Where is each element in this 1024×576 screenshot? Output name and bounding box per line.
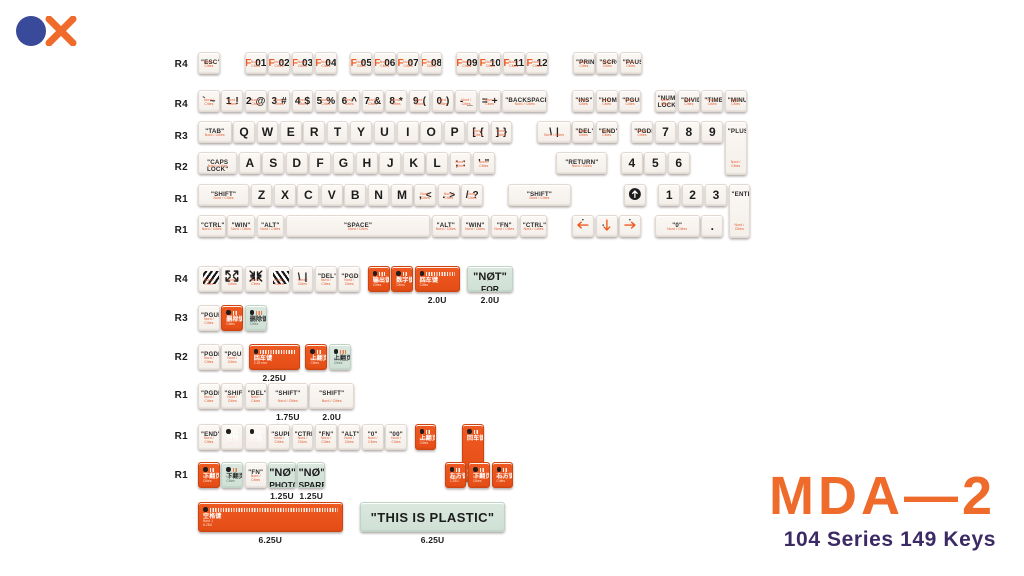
keycap-extra-r2-2[interactable]: 回车键Nord 2 2.25 mm — [249, 344, 300, 370]
key-sublegend: Nord / Cities — [726, 98, 746, 107]
key-legend: C — [298, 185, 318, 205]
novelty-header — [334, 349, 346, 354]
key-sublegend: Nord 1 Cities — [497, 475, 510, 484]
keycap-extra-r5-5[interactable]: 左方键Nord 1 1.25U — [445, 462, 467, 488]
keycap-base-r2-12[interactable]: ]}Nord / Cities — [491, 121, 513, 143]
key-sublegend: Nord / Cities — [222, 98, 242, 107]
keycap-base-r1-10[interactable]: 0)Nord / Cities — [432, 90, 454, 112]
key-sublegend: Nord / Cities — [679, 98, 699, 107]
keycap-base-r3-9[interactable]: L — [426, 152, 448, 174]
key-legend: D — [287, 153, 307, 173]
keycap-base-r1-4[interactable]: 4$Nord / Cities — [292, 90, 314, 112]
keycap-base-r4-7[interactable]: M — [391, 184, 413, 206]
key-sublegend: Nord / Cities — [398, 60, 418, 69]
bullet-icon — [467, 429, 472, 434]
key-sublegend: Nord / Cities — [269, 436, 289, 445]
keycap-extra-r6-0[interactable]: 空格键Nord 1 6.25U — [198, 502, 343, 532]
bars-icon — [317, 350, 322, 354]
keycap-base-r4-11[interactable]: "SHIFT"Nord / Cities — [508, 184, 571, 206]
keycap-base-r3-3[interactable]: D — [286, 152, 308, 174]
keycap-base-r3-1[interactable]: A — [239, 152, 261, 174]
key-legend: 2 — [683, 185, 703, 205]
keycap-base-r3-7[interactable]: J — [379, 152, 401, 174]
keycap-base-r2-7[interactable]: U — [374, 121, 396, 143]
keycap-base-r2-2[interactable]: W — [257, 121, 279, 143]
row-label-r2: R2 — [166, 162, 188, 173]
keycap-extra-r0-6[interactable]: "PGDN"Nord / Cities — [338, 266, 360, 292]
keycap-base-r3-6[interactable]: H — [356, 152, 378, 174]
keycap-base-r1-20[interactable]: "MINUS"Nord / Cities — [725, 90, 747, 112]
bullet-icon — [420, 271, 425, 276]
key-sublegend: Nord 1 1.25U — [450, 475, 463, 484]
keycap-base-r2-9[interactable]: O — [420, 121, 442, 143]
keycap-base-r4-4[interactable]: V — [321, 184, 343, 206]
unit-caption-0-10: 2.0U — [467, 295, 512, 305]
key-legend: "THIS IS PLASTIC" — [361, 503, 504, 531]
key-sublegend: Nord / Cities — [457, 60, 477, 69]
key-sublegend: Nord / Cities — [222, 278, 242, 287]
keycap-extra-r5-7[interactable]: 右方键Nord 1 Cities — [492, 462, 514, 488]
key-legend-line2: SPARE — [298, 481, 324, 488]
brand-logo — [16, 14, 96, 50]
key-sublegend: Nord / Cities — [451, 160, 471, 169]
key-sublegend: Nord / Cities — [287, 227, 430, 231]
keycap-base-r0-4[interactable]: F04Nord / Cities — [315, 52, 337, 74]
keycap-base-r0-10[interactable]: F10Nord / Cities — [479, 52, 501, 74]
arrow-left-icon — [573, 216, 593, 234]
keycap-base-r3-10[interactable]: ;:Nord / Cities — [450, 152, 472, 174]
key-legend: W — [258, 122, 278, 142]
keycap-base-r0-15[interactable]: "PAUSE"Nord / Cities — [620, 52, 642, 74]
keycap-extra-r4-7[interactable]: "0"Nord / Cities — [362, 424, 384, 450]
novelty-header — [497, 467, 509, 472]
keycap-extra-r0-8[interactable]: 数字键Nord 4 Cities — [391, 266, 413, 292]
row-label-r4-1: R4 — [166, 59, 188, 70]
keycap-base-r3-14[interactable]: 5 — [644, 152, 666, 174]
keycap-base-r0-1[interactable]: F01Nord / Cities — [245, 52, 267, 74]
keycap-base-r5-11[interactable]: "0"Nord / Cities — [655, 215, 700, 237]
keycap-extra-r3-4[interactable]: "SHIFT"Nord / Cities — [309, 383, 354, 409]
keycap-base-r3-2[interactable]: S — [262, 152, 284, 174]
keycap-extra-r5-2[interactable]: "FN"Nord / Cities — [245, 462, 267, 488]
keycap-base-r5-4[interactable]: "ALT"Nord / Cities — [432, 215, 460, 237]
key-sublegend: Nord / Cities — [199, 317, 219, 326]
row-label-r3: R3 — [166, 131, 188, 142]
orange-cross-icon — [44, 16, 78, 46]
keycap-base-r2-16[interactable]: "PGDN"Nord / Cities — [631, 121, 653, 143]
key-sublegend: Nord / Cities — [620, 98, 640, 107]
bullet-icon — [226, 310, 231, 315]
keycap-base-r0-9[interactable]: F09Nord / Cities — [456, 52, 478, 74]
keycap-base-r1-7[interactable]: 7&Nord / Cities — [362, 90, 384, 112]
key-sublegend: Nord / Cities — [199, 436, 219, 445]
keycap-base-r2-17[interactable]: 7 — [655, 121, 677, 143]
key-sublegend: Nord / Cities — [269, 60, 289, 69]
key-legend: O — [421, 122, 441, 142]
bars-icon — [233, 311, 238, 315]
keycap-extra-r5-4[interactable]: "NØ"SPARE — [297, 462, 325, 488]
key-legend: N — [369, 185, 389, 205]
key-sublegend: Nord / Cities — [199, 227, 225, 231]
keycap-base-r4-1[interactable]: Z — [251, 184, 273, 206]
key-sublegend: Nord / Cities — [199, 60, 219, 69]
key-sublegend: Nord / Cities — [509, 196, 570, 200]
key-sublegend: Nord 2 2.25 mm — [254, 357, 296, 366]
keycap-base-r4-14[interactable]: 2 — [682, 184, 704, 206]
keycap-extra-r3-2[interactable]: "DEL"Nord / Cities — [245, 383, 267, 409]
key-sublegend: Nord / Cities — [503, 102, 546, 106]
key-sublegend: Nord / Cities — [410, 98, 430, 107]
keycap-base-r3-8[interactable]: K — [403, 152, 425, 174]
keycap-extra-r3-1[interactable]: "SHIFT"Nord / Cities — [221, 383, 243, 409]
key-legend: "SHIFT" — [269, 390, 306, 397]
key-sublegend: Nord / Cities — [730, 223, 750, 232]
key-sublegend: Nord / Cities — [492, 227, 518, 231]
keycap-base-r4-9[interactable]: .>Nord / Cities — [438, 184, 460, 206]
keycap-base-r2-18[interactable]: 8 — [678, 121, 700, 143]
keycap-base-r4-5[interactable]: B — [344, 184, 366, 206]
key-sublegend: Nord / Cities — [632, 129, 652, 138]
bars-icon — [456, 468, 461, 472]
bars-icon — [379, 272, 384, 276]
key-legend-line1: "NØ" — [298, 468, 324, 480]
keycap-base-r1-13[interactable]: "BACKSPACE"Nord / Cities — [502, 90, 547, 112]
key-legend: P — [445, 122, 465, 142]
arrow-down-icon — [597, 216, 617, 234]
bullet-icon — [250, 429, 255, 434]
keycap-base-r3-12[interactable]: "RETURN"Nord / Cities — [556, 152, 607, 174]
key-sublegend: Nord / Cities — [462, 227, 488, 231]
keycap-base-r3-5[interactable]: G — [333, 152, 355, 174]
key-sublegend: Nord / Cities — [316, 60, 336, 69]
bullet-icon — [420, 429, 425, 434]
key-legend-line2: PHOTO — [269, 481, 295, 488]
bars-icon — [503, 468, 508, 472]
key-legend: "ENTER" — [730, 191, 750, 198]
novelty-header — [420, 429, 432, 434]
key-sublegend: Nord / Cities — [199, 395, 219, 404]
key-legend: H — [357, 153, 377, 173]
key-sublegend: Nord / Cities — [199, 278, 219, 287]
keycap-base-r1-6[interactable]: 6^Nord / Cities — [338, 90, 360, 112]
keycap-base-r0-3[interactable]: F03Nord / Cities — [292, 52, 314, 74]
bars-icon — [210, 468, 215, 472]
keycap-base-r1-0[interactable]: `~Nord / Cities — [198, 90, 220, 112]
novelty-header — [203, 507, 338, 512]
keycap-base-r2-6[interactable]: Y — [350, 121, 372, 143]
keycap-base-r2-5[interactable]: T — [327, 121, 349, 143]
key-sublegend: Nord / Cities — [538, 133, 570, 137]
key-sublegend: Nord / Cities — [433, 98, 453, 107]
keycap-base-r1-17[interactable]: "NUM" LOCKNord / Cities — [655, 90, 677, 112]
keycap-base-r1-3[interactable]: 3#Nord / Cities — [268, 90, 290, 112]
keycap-extra-r5-1[interactable]: 下翻页Nord 1 Cities — [221, 462, 243, 488]
keycap-extra-r4-4[interactable]: "CTRL"Nord / Cities — [292, 424, 314, 450]
row-label-r1-1: R1 — [166, 194, 188, 205]
keycap-base-r0-2[interactable]: F02Nord / Cities — [268, 52, 290, 74]
keycap-base-r2-11[interactable]: [{Nord / Cities — [467, 121, 489, 143]
key-sublegend: Nord / Cities — [222, 395, 242, 404]
bars-icon — [340, 350, 345, 354]
key-sublegend: Nord / Cities — [293, 436, 313, 445]
novelty-header — [226, 310, 238, 315]
keycap-base-r4-6[interactable]: N — [368, 184, 390, 206]
keycap-base-r3-11[interactable]: '"Nord / Cities — [473, 152, 495, 174]
keycap-extra-r2-0[interactable]: "PGDN"Nord / Cities — [198, 344, 220, 370]
keycap-base-r0-11[interactable]: F11Nord / Cities — [503, 52, 525, 74]
keycap-base-r1-8[interactable]: 8*Nord / Cities — [385, 90, 407, 112]
row-label-r1-2: R1 — [166, 225, 188, 236]
keycap-base-r5-7[interactable]: "CTRL"Nord / Cities — [520, 215, 548, 237]
keycap-base-r0-7[interactable]: F07Nord / Cities — [397, 52, 419, 74]
keycap-base-r1-5[interactable]: 5%Nord / Cities — [315, 90, 337, 112]
key-legend: "PLUS" — [726, 128, 746, 135]
keycap-base-r4-8[interactable]: ,<Nord / Cities — [414, 184, 436, 206]
keycap-extra-r4-5[interactable]: "FN"Nord / Cities — [315, 424, 337, 450]
keycap-base-r5-0[interactable]: "CTRL"Nord / Cities — [198, 215, 226, 237]
key-sublegend: Nord / Cities — [468, 129, 488, 138]
bars-icon — [426, 272, 455, 276]
novelty-header — [467, 429, 479, 434]
keycap-extra-r0-9[interactable]: 回车键Nord 4 Cities — [415, 266, 460, 292]
keycap-extra-r4-6[interactable]: "ALT"Nord / Cities — [338, 424, 360, 450]
keycap-base-r0-0[interactable]: "ESC"Nord / Cities — [198, 52, 220, 74]
keycap-extra-r5-0[interactable]: 下翻页Nord 1 Cities — [198, 462, 220, 488]
keycap-base-r3-15[interactable]: 6 — [668, 152, 690, 174]
key-legend: B — [345, 185, 365, 205]
keycap-extra-r5-6[interactable]: 下翻页Nord 1 Cities — [468, 462, 490, 488]
keycap-base-r5-2[interactable]: "ALT"Nord / Cities — [257, 215, 285, 237]
key-sublegend: Nord / Cities — [363, 98, 383, 107]
keycap-base-r5-3[interactable]: "SPACE"Nord / Cities — [286, 215, 431, 237]
novelty-header — [254, 349, 295, 354]
bars-icon — [426, 430, 431, 434]
key-sublegend: Nord / Cities — [573, 129, 593, 138]
keycap-base-r5-6[interactable]: "FN"Nord / Cities — [491, 215, 519, 237]
keycap-base-r2-3[interactable]: E — [280, 121, 302, 143]
keycap-extra-r2-4[interactable]: 上翻页Nord 2 Cities — [329, 344, 351, 370]
keycap-base-r1-19[interactable]: "TIMES"Nord / Cities — [701, 90, 723, 112]
keycap-base-r4-0[interactable]: "SHIFT"Nord / Cities — [198, 184, 249, 206]
keycap-base-r5-12[interactable]: . — [701, 215, 723, 237]
keycap-extra-r4-2[interactable]: 功能Nord 1 Cities — [245, 424, 267, 450]
key-sublegend: Nord / Cities — [258, 227, 284, 231]
keycap-base-r5-10[interactable] — [619, 215, 641, 237]
keycap-base-r1-12[interactable]: =+Nord / Cities — [479, 90, 501, 112]
key-sublegend: Nord / Cities — [415, 192, 435, 201]
unit-caption-3-3: 1.75U — [268, 412, 307, 422]
key-legend: L — [427, 153, 447, 173]
arrow-right-icon — [620, 216, 640, 234]
key-legend: T — [328, 122, 348, 142]
keycap-extra-r0-10[interactable]: "NØT"FOR RESALE — [467, 266, 512, 292]
keycap-extra-r5-3[interactable]: "NØ"PHOTO — [268, 462, 296, 488]
novelty-header — [473, 467, 485, 472]
bullet-icon — [250, 310, 255, 315]
keycap-base-r0-5[interactable]: F05Nord / Cities — [350, 52, 372, 74]
keycap-base-r1-14[interactable]: "INS"Nord / Cities — [572, 90, 594, 112]
key-sublegend: Nord 1 Cities — [226, 437, 239, 446]
keycap-extra-r1-0[interactable]: "PGUP"Nord / Cities — [198, 305, 220, 331]
key-sublegend: Nord / Cities — [439, 192, 459, 201]
keycap-base-r5-5[interactable]: "WIN"Nord / Cities — [461, 215, 489, 237]
key-sublegend: Nord 1 Cities — [473, 475, 486, 484]
novelty-header — [226, 429, 238, 434]
keycap-base-r4-15[interactable]: 3 — [705, 184, 727, 206]
key-sublegend: Nord / Cities — [269, 278, 289, 287]
key-legend: I — [398, 122, 418, 142]
keycap-base-r2-20[interactable]: "PLUS"Nord / Cities — [725, 121, 747, 175]
novelty-header — [226, 467, 238, 472]
bars-icon — [480, 468, 485, 472]
key-sublegend: Nord / Cities — [246, 60, 266, 69]
extra-row-label-r3: R3 — [166, 313, 188, 324]
keycap-extra-r4-8[interactable]: "00"Nord / Cities — [385, 424, 407, 450]
key-legend: Q — [234, 122, 254, 142]
keycap-extra-r0-0[interactable]: Nord / Cities — [198, 266, 220, 292]
keycap-base-r2-1[interactable]: Q — [233, 121, 255, 143]
key-legend-cjk: 回车键 — [467, 436, 480, 443]
key-sublegend: Nord / Cities — [726, 160, 746, 169]
keycap-extra-r4-0[interactable]: "END"Nord / Cities — [198, 424, 220, 450]
novelty-header — [310, 349, 322, 354]
keycap-base-r2-19[interactable]: 9 — [701, 121, 723, 143]
key-sublegend: Nord / Cities — [574, 60, 594, 69]
key-sublegend: Nord / Cities — [375, 60, 395, 69]
novelty-header — [250, 310, 262, 315]
keycap-base-r0-8[interactable]: F08Nord / Cities — [421, 52, 443, 74]
unit-caption-0-9: 2.0U — [415, 295, 460, 305]
key-sublegend: Nord / Cities — [199, 356, 219, 365]
key-sublegend: Nord / Cities — [363, 436, 383, 445]
unit-caption-3-4: 2.0U — [309, 412, 354, 422]
key-sublegend: Nord / Cities — [621, 60, 641, 69]
key-sublegend: Nord / Cities — [228, 227, 254, 231]
key-legend: 7 — [656, 122, 676, 142]
arrow-up-icon — [625, 185, 645, 203]
keycap-extra-r0-2[interactable]: Nord / Cities — [245, 266, 267, 292]
keycap-base-r2-0[interactable]: "TAB"Nord / Cities — [198, 121, 232, 143]
keycap-base-r1-15[interactable]: "HOME"Nord / Cities — [596, 90, 618, 112]
page-subtitle: 104 Series 149 Keys — [769, 528, 996, 552]
keycap-base-r1-2[interactable]: 2@Nord / Cities — [245, 90, 267, 112]
bullet-icon — [254, 349, 259, 354]
key-sublegend: Nord / Cities — [557, 164, 606, 168]
key-sublegend: Nord / Cities — [422, 60, 442, 69]
keycap-base-r2-15[interactable]: "END"Nord / Cities — [596, 121, 618, 143]
keycap-extra-r0-4[interactable]: \|Nord / Cities — [292, 266, 314, 292]
key-sublegend: Nord / Cities — [521, 227, 547, 231]
keycap-base-r2-13[interactable]: \|Nord / Cities — [537, 121, 571, 143]
key-sublegend: Nord 1 6.25U — [203, 519, 339, 528]
keycap-base-r1-9[interactable]: 9(Nord / Cities — [409, 90, 431, 112]
keycap-extra-r6-1[interactable]: "THIS IS PLASTIC" — [360, 502, 505, 532]
key-sublegend: Nord 1 Cities — [250, 437, 263, 446]
keycap-base-r0-6[interactable]: F06Nord / Cities — [374, 52, 396, 74]
key-sublegend: Nord / Cities — [293, 278, 313, 287]
key-sublegend: Nord / Cities — [702, 98, 722, 107]
bullet-icon — [473, 467, 478, 472]
keycap-base-r0-13[interactable]: "PRINT"Nord / Cities — [573, 52, 595, 74]
key-sublegend: Nord 4 Cities — [396, 279, 409, 288]
keycap-base-r2-4[interactable]: R — [303, 121, 325, 143]
keycap-extra-r2-1[interactable]: "PGUP"Nord / Cities — [221, 344, 243, 370]
key-sublegend: Nord 1 Cities — [226, 475, 239, 484]
keycap-base-r4-13[interactable]: 1 — [658, 184, 680, 206]
key-legend: A — [240, 153, 260, 173]
keycap-base-r1-1[interactable]: 1!Nord / Cities — [221, 90, 243, 112]
keycap-extra-r3-0[interactable]: "PGDN"Nord / Cities — [198, 383, 220, 409]
unit-caption-6-0: 6.25U — [198, 535, 343, 545]
keycap-base-r1-16[interactable]: "PGUP"Nord / Cities — [619, 90, 641, 112]
key-sublegend: Nord / Cities — [386, 98, 406, 107]
keycap-extra-r0-5[interactable]: "DEL"Nord / Cities — [315, 266, 337, 292]
bullet-icon — [226, 429, 231, 434]
keycap-base-r4-2[interactable]: X — [274, 184, 296, 206]
keycap-base-r2-10[interactable]: P — [444, 121, 466, 143]
keycap-extra-r4-3[interactable]: "SUPER"Nord / Cities — [268, 424, 290, 450]
key-sublegend: Nord / Cities — [222, 356, 242, 365]
keycap-extra-r0-3[interactable]: Nord / Cities — [268, 266, 290, 292]
key-sublegend: Nord / Cities — [246, 278, 266, 287]
keycap-base-r4-3[interactable]: C — [297, 184, 319, 206]
keycap-extra-r4-9[interactable]: 上翻页Nord 1 Cities — [415, 424, 437, 450]
keycap-base-r0-12[interactable]: F12Nord / Cities — [526, 52, 548, 74]
keycap-base-r2-14[interactable]: "DEL"Nord / Cities — [572, 121, 594, 143]
novelty-header — [373, 271, 385, 276]
extra-row-label-r4: R4 — [166, 274, 188, 285]
key-legend: U — [375, 122, 395, 142]
keycap-extra-r3-3[interactable]: "SHIFT"Nord / Cities — [268, 383, 307, 409]
keycap-base-r3-4[interactable]: F — [309, 152, 331, 174]
keycap-base-r1-11[interactable]: -_Nord / Cities — [455, 90, 477, 112]
keycap-extra-r2-3[interactable]: 上翻页Nord 2 Cities — [305, 344, 327, 370]
keycap-base-r4-12[interactable] — [624, 184, 646, 206]
page-title: MDA—2 — [769, 471, 996, 522]
keycap-extra-r0-1[interactable]: Nord / Cities — [221, 266, 243, 292]
keycap-extra-r1-1[interactable]: 删除键Nord 3 Cities — [221, 305, 243, 331]
key-sublegend: Nord / Cities — [480, 98, 500, 107]
key-sublegend: Nord 1 Cities — [203, 475, 216, 484]
key-sublegend: Nord / Cities — [246, 98, 266, 107]
keycap-extra-r4-1[interactable]: 删除Nord 1 Cities — [221, 424, 243, 450]
key-legend: 3 — [706, 185, 726, 205]
key-legend: 1 — [659, 185, 679, 205]
key-legend: G — [334, 153, 354, 173]
keycap-base-r2-8[interactable]: I — [397, 121, 419, 143]
keycap-base-r4-10[interactable]: /?Nord / Cities — [461, 184, 483, 206]
key-legend: K — [404, 153, 424, 173]
keycap-base-r0-14[interactable]: "SCROLL"Nord / Cities — [596, 52, 618, 74]
keycap-base-r5-8[interactable] — [572, 215, 594, 237]
keycap-base-r5-9[interactable] — [596, 215, 618, 237]
keycap-extra-r0-7[interactable]: 输出键Nord 4 Cities — [368, 266, 390, 292]
keycap-base-r4-16[interactable]: "ENTER"Nord / Cities — [729, 184, 751, 238]
keycap-base-r1-18[interactable]: "DIVIDE"Nord / Cities — [678, 90, 700, 112]
key-legend: V — [322, 185, 342, 205]
keycap-base-r5-1[interactable]: "WIN"Nord / Cities — [227, 215, 255, 237]
keycap-base-r3-0[interactable]: "CAPS LOCK"Nord / Cities — [198, 152, 237, 174]
unit-caption-5-4: 1.25U — [297, 491, 325, 501]
novelty-header — [420, 271, 455, 276]
bullet-icon — [203, 467, 208, 472]
keycap-base-r3-13[interactable]: 4 — [621, 152, 643, 174]
key-sublegend: Nord / Cities — [199, 133, 231, 137]
key-sublegend: Nord / Cities — [310, 399, 353, 403]
keycap-extra-r1-2[interactable]: 删除键Nord 3 Cities — [245, 305, 267, 331]
key-legend: S — [263, 153, 283, 173]
key-sublegend: Nord / Cities — [246, 474, 266, 483]
